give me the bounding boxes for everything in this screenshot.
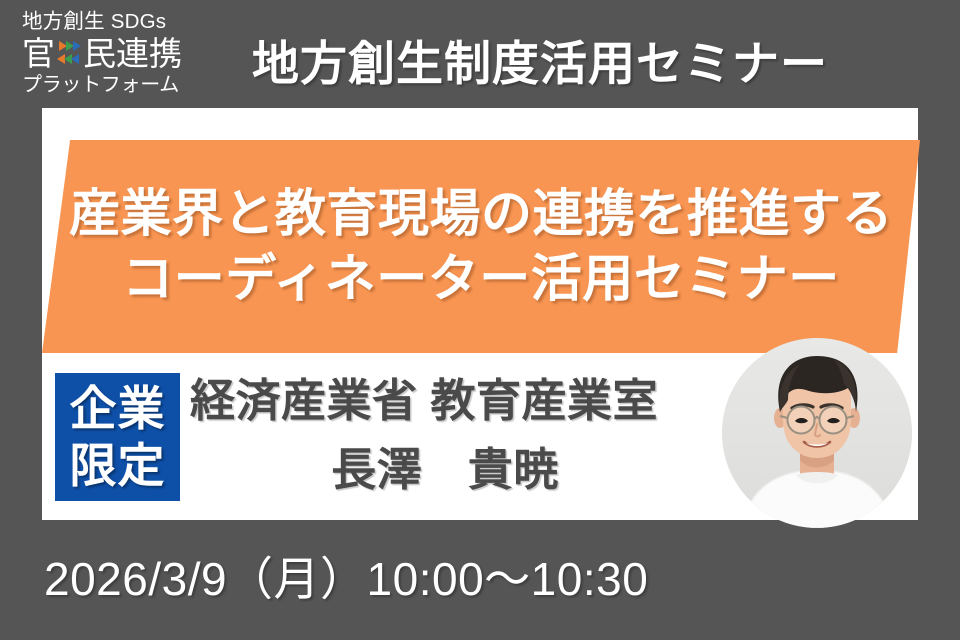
badge-line-1: 企業 [70, 380, 166, 437]
logo-line-3: プラットフォーム [22, 75, 202, 95]
banner-title-line-1: 産業界と教育現場の連携を推進する [69, 183, 893, 245]
page-title: 地方創生制度活用セミナー [252, 25, 828, 94]
platform-logo: 地方創生 SDGs 官 民連携 プラットフォーム [22, 12, 202, 95]
banner-title: 産業界と教育現場の連携を推進する コーディネーター活用セミナー [42, 140, 920, 353]
badge-line-2: 限定 [70, 437, 166, 494]
speaker-organization: 経済産業省 教育産業室 [190, 372, 710, 431]
speaker-info: 経済産業省 教育産業室 長澤 貴暁 [190, 372, 710, 499]
logo-minrenkei-text: 民連携 [83, 37, 182, 70]
logo-kan-text: 官 [22, 37, 55, 70]
banner-title-line-2: コーディネーター活用セミナー [122, 248, 839, 310]
seminar-slide: 地方創生 SDGs 官 民連携 プラットフォーム 地方創生制度活用セミナー 産業… [0, 0, 960, 640]
logo-line-2: 官 民連携 [22, 37, 202, 70]
status-badge: 企業 限定 [55, 373, 180, 501]
chevron-mark-icon [56, 38, 82, 68]
logo-line-1: 地方創生 SDGs [22, 12, 202, 33]
speaker-name: 長澤 貴暁 [190, 441, 710, 500]
event-datetime: 2026/3/9（月）10:00〜10:30 [44, 543, 648, 609]
avatar [722, 338, 912, 528]
